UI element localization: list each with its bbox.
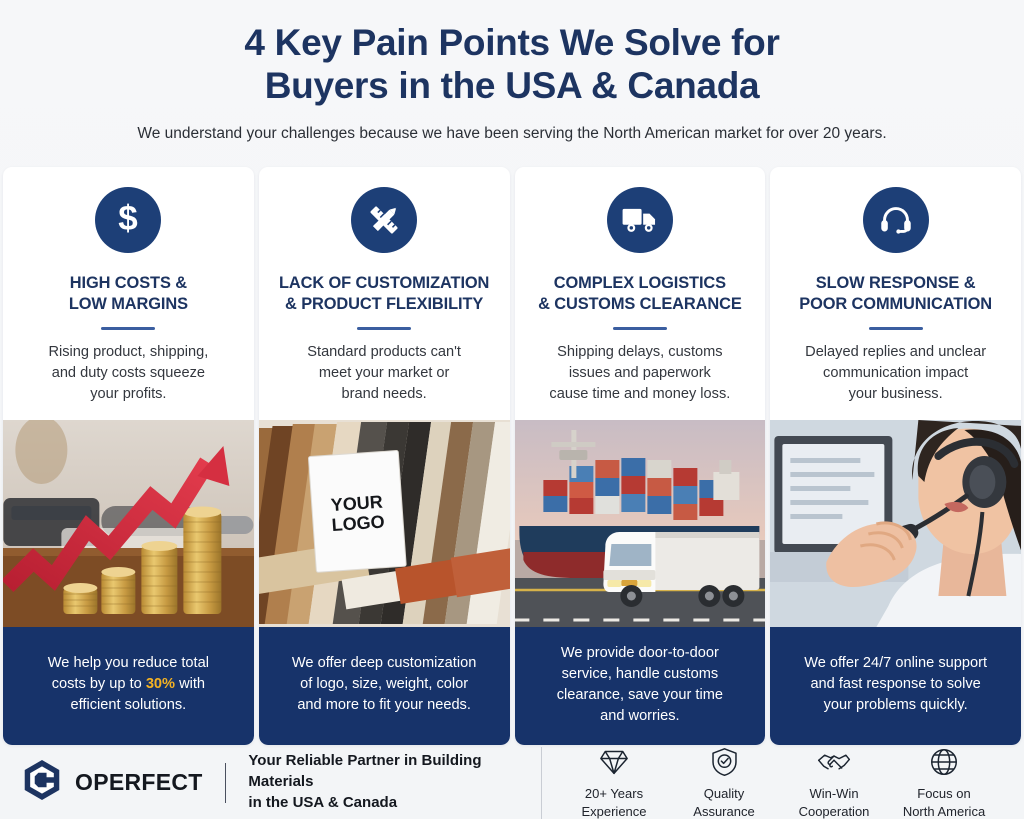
card-header-1: $ HIGH COSTS & LOW MARGINS Rising produc… [3, 167, 254, 420]
card-solution-3: We provide door-to-door service, handle … [515, 627, 766, 746]
pain-point-card-customization[interactable]: LACK OF CUSTOMIZATION & PRODUCT FLEXIBIL… [259, 167, 510, 745]
card-description-4: Delayed replies and unclear communicatio… [784, 342, 1007, 405]
card-desc-2-line-3: brand needs. [273, 384, 496, 405]
card-heading-1-line-2: LOW MARGINS [17, 294, 240, 316]
card-heading-1: HIGH COSTS & LOW MARGINS [17, 273, 240, 316]
headset-icon [863, 187, 929, 253]
rising-cost-chart-photo [3, 420, 254, 627]
pain-point-card-high-costs[interactable]: $ HIGH COSTS & LOW MARGINS Rising produc… [3, 167, 254, 745]
savings-highlight: 30% [146, 676, 175, 692]
card-solution-2-line-3: and more to fit your needs. [271, 695, 498, 716]
trust-badge-north-america-label: Focus on North America [890, 785, 998, 819]
card-solution-4-line-1: We offer 24/7 online support [782, 653, 1009, 674]
card-solution-4-line-2: and fast response to solve [782, 674, 1009, 695]
card-desc-3-line-3: cause time and money loss. [529, 384, 752, 405]
card-desc-2-line-2: meet your market or [273, 363, 496, 384]
card-desc-1-line-2: and duty costs squeeze [17, 363, 240, 384]
card-heading-4-line-1: SLOW RESPONSE & [784, 273, 1007, 295]
globe-icon [890, 745, 998, 779]
card-description-1: Rising product, shipping, and duty costs… [17, 342, 240, 405]
card-solution-1-line-1: We help you reduce total [15, 653, 242, 674]
card-heading-4-line-2: POOR COMMUNICATION [784, 294, 1007, 316]
card-description-2: Standard products can't meet your market… [273, 342, 496, 405]
pencil-ruler-icon [351, 187, 417, 253]
brand-tagline-line-2: in the USA & Canada [248, 793, 515, 814]
badge-1-line-2: Experience [560, 803, 668, 819]
card-divider-4 [869, 327, 923, 330]
card-solution-1: We help you reduce total costs by up to … [3, 627, 254, 746]
trust-badge-quality-label: Quality Assurance [670, 785, 778, 819]
card-desc-2-line-1: Standard products can't [273, 342, 496, 363]
pain-point-card-communication[interactable]: SLOW RESPONSE & POOR COMMUNICATION Delay… [770, 167, 1021, 745]
shield-check-icon [670, 745, 778, 779]
badge-4-line-1: Focus on [890, 785, 998, 802]
badge-3-line-2: Cooperation [780, 803, 888, 819]
badge-3-line-1: Win-Win [780, 785, 888, 802]
footer-divider-2 [541, 747, 542, 819]
card-desc-1-line-1: Rising product, shipping, [17, 342, 240, 363]
card-solution-4: We offer 24/7 online support and fast re… [770, 627, 1021, 746]
trust-badge-list: 20+ Years Experience Quality [560, 745, 998, 819]
badge-2-line-2: Assurance [670, 803, 778, 819]
card-solution-3-line-2: service, handle customs [527, 664, 754, 685]
badge-4-line-2: North America [890, 803, 998, 819]
badge-2-line-1: Quality [670, 785, 778, 802]
delivery-truck-icon [607, 187, 673, 253]
page-subtitle: We understand your challenges because we… [40, 125, 984, 143]
brand-lockup[interactable]: OPERFECT [22, 759, 203, 806]
card-heading-3-line-2: & CUSTOMS CLEARANCE [529, 294, 752, 316]
badge-1-line-1: 20+ Years [560, 785, 668, 802]
card-solution-3-line-3: clearance, save your time [527, 685, 754, 706]
page-title: 4 Key Pain Points We Solve for Buyers in… [40, 22, 984, 108]
card-desc-4-line-2: communication impact [784, 363, 1007, 384]
pain-point-card-logistics[interactable]: COMPLEX LOGISTICS & CUSTOMS CLEARANCE Sh… [515, 167, 766, 745]
card-solution-2-line-2: of logo, size, weight, color [271, 674, 498, 695]
page-title-line-2: Buyers in the USA & Canada [40, 65, 984, 108]
pain-point-card-list: $ HIGH COSTS & LOW MARGINS Rising produc… [0, 167, 1024, 745]
page-footer: OPERFECT Your Reliable Partner in Buildi… [0, 745, 1024, 819]
your-logo-text-line-2: LOGO [331, 511, 385, 535]
handshake-icon [780, 745, 888, 779]
brand-tagline: Your Reliable Partner in Building Materi… [248, 751, 515, 813]
card-header-2: LACK OF CUSTOMIZATION & PRODUCT FLEXIBIL… [259, 167, 510, 420]
dollar-sign-icon: $ [95, 187, 161, 253]
card-heading-4: SLOW RESPONSE & POOR COMMUNICATION [784, 273, 1007, 316]
infographic-page: 4 Key Pain Points We Solve for Buyers in… [0, 0, 1024, 819]
card-heading-3: COMPLEX LOGISTICS & CUSTOMS CLEARANCE [529, 273, 752, 316]
card-heading-2-line-2: & PRODUCT FLEXIBILITY [273, 294, 496, 316]
trust-badge-cooperation: Win-Win Cooperation [780, 745, 888, 819]
card-desc-1-line-3: your profits. [17, 384, 240, 405]
card-divider-2 [357, 327, 411, 330]
card-header-3: COMPLEX LOGISTICS & CUSTOMS CLEARANCE Sh… [515, 167, 766, 420]
card-heading-1-line-1: HIGH COSTS & [17, 273, 240, 295]
trust-badge-quality: Quality Assurance [670, 745, 778, 819]
solution-pre-text: costs by up to [52, 676, 146, 692]
trust-badge-cooperation-label: Win-Win Cooperation [780, 785, 888, 819]
trust-badge-north-america: Focus on North America [890, 745, 998, 819]
container-ship-truck-photo [515, 420, 766, 627]
card-solution-1-line-2: costs by up to 30% with [15, 674, 242, 695]
card-description-3: Shipping delays, customs issues and pape… [529, 342, 752, 405]
trust-badge-experience-label: 20+ Years Experience [560, 785, 668, 819]
card-solution-2-line-1: We offer deep customization [271, 653, 498, 674]
page-header: 4 Key Pain Points We Solve for Buyers in… [0, 0, 1024, 153]
page-title-line-1: 4 Key Pain Points We Solve for [40, 22, 984, 65]
brand-name: OPERFECT [75, 769, 203, 796]
card-solution-4-line-3: your problems quickly. [782, 695, 1009, 716]
card-solution-3-line-1: We provide door-to-door [527, 643, 754, 664]
footer-divider-1 [225, 763, 227, 803]
card-header-4: SLOW RESPONSE & POOR COMMUNICATION Delay… [770, 167, 1021, 420]
card-desc-4-line-3: your business. [784, 384, 1007, 405]
card-solution-1-line-3: efficient solutions. [15, 695, 242, 716]
card-desc-4-line-1: Delayed replies and unclear [784, 342, 1007, 363]
operfect-hex-c-logo-icon [22, 759, 62, 806]
card-desc-3-line-2: issues and paperwork [529, 363, 752, 384]
wood-samples-your-logo-photo: YOUR LOGO [259, 420, 510, 627]
card-solution-3-line-4: and worries. [527, 706, 754, 727]
card-desc-3-line-1: Shipping delays, customs [529, 342, 752, 363]
card-heading-3-line-1: COMPLEX LOGISTICS [529, 273, 752, 295]
solution-post-text: with [175, 676, 205, 692]
card-heading-2: LACK OF CUSTOMIZATION & PRODUCT FLEXIBIL… [273, 273, 496, 316]
card-divider-1 [101, 327, 155, 330]
brand-tagline-line-1: Your Reliable Partner in Building Materi… [248, 751, 515, 792]
trust-badge-experience: 20+ Years Experience [560, 745, 668, 819]
card-heading-2-line-1: LACK OF CUSTOMIZATION [273, 273, 496, 295]
card-solution-2: We offer deep customization of logo, siz… [259, 627, 510, 746]
diamond-icon [560, 745, 668, 779]
svg-text:$: $ [119, 200, 138, 238]
call-center-agent-photo [770, 420, 1021, 627]
card-divider-3 [613, 327, 667, 330]
